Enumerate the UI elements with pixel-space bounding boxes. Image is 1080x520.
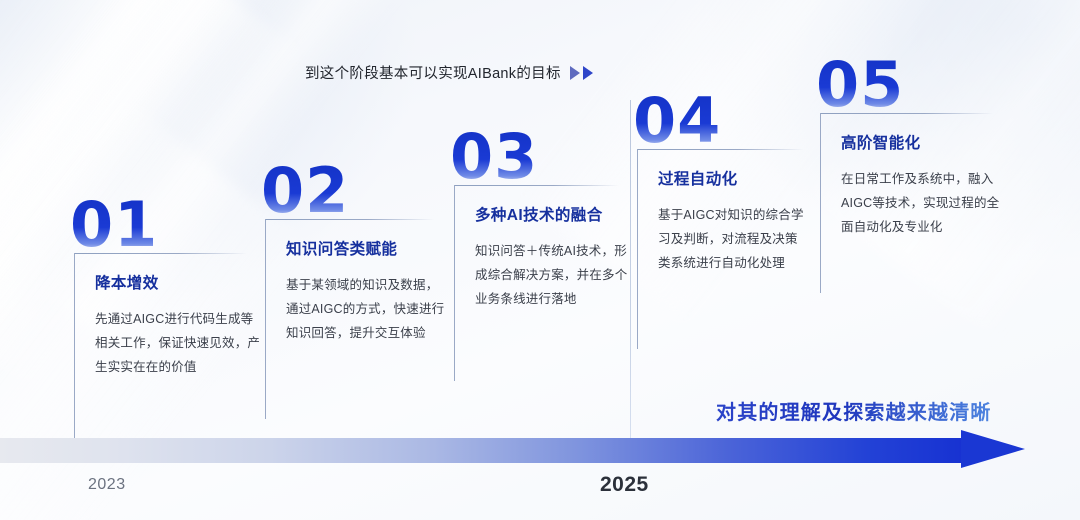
- step-title: 降本增效: [95, 271, 263, 293]
- step-description: 先通过AIGC进行代码生成等相关工作，保证快速见效，产生实实在在的价值: [95, 307, 263, 379]
- timeline-arrow: [0, 436, 1080, 478]
- triangle-right-icon: [583, 66, 593, 80]
- step-title: 过程自动化: [658, 167, 810, 189]
- step-title: 知识问答类赋能: [286, 237, 446, 259]
- step-description: 基于AIGC对知识的综合学习及判断，对流程及决策类系统进行自动化处理: [658, 203, 810, 275]
- step-number: 03: [450, 128, 633, 185]
- step-bracket: 多种AI技术的融合 知识问答＋传统AI技术，形成综合解决方案，并在多个业务条线进…: [454, 185, 633, 381]
- roadmap-stage: 到这个阶段基本可以实现AIBank的目标 01 降本增效 先通过AIGC进行代码…: [0, 0, 1080, 520]
- step-bracket: 降本增效 先通过AIGC进行代码生成等相关工作，保证快速见效，产生实实在在的价值: [74, 253, 263, 449]
- step-card-03[interactable]: 03 多种AI技术的融合 知识问答＋传统AI技术，形成综合解决方案，并在多个业务…: [454, 128, 633, 381]
- step-card-04[interactable]: 04 过程自动化 基于AIGC对知识的综合学习及判断，对流程及决策类系统进行自动…: [637, 92, 810, 349]
- step-number: 05: [816, 56, 1001, 113]
- timeline-bar: [0, 438, 963, 463]
- step-description: 基于某领域的知识及数据，通过AIGC的方式，快速进行知识回答，提升交互体验: [286, 273, 446, 345]
- step-number: 04: [633, 92, 810, 149]
- step-card-02[interactable]: 02 知识问答类赋能 基于某领域的知识及数据，通过AIGC的方式，快速进行知识回…: [265, 162, 446, 419]
- step-card-01[interactable]: 01 降本增效 先通过AIGC进行代码生成等相关工作，保证快速见效，产生实实在在…: [74, 196, 263, 449]
- year-label-start: 2023: [88, 476, 126, 494]
- step-description: 知识问答＋传统AI技术，形成综合解决方案，并在多个业务条线进行落地: [475, 239, 633, 311]
- step-number: 01: [70, 196, 263, 253]
- slogan-text: 对其的理解及探索越来越清晰: [716, 396, 992, 425]
- year-label-mid: 2025: [600, 473, 649, 497]
- triangle-right-icon: [570, 66, 580, 80]
- step-title: 高阶智能化: [841, 131, 1001, 153]
- step-number: 02: [261, 162, 446, 219]
- step-bracket: 过程自动化 基于AIGC对知识的综合学习及判断，对流程及决策类系统进行自动化处理: [637, 149, 810, 349]
- annotation-arrows: [570, 66, 593, 80]
- annotation-text: 到这个阶段基本可以实现AIBank的目标: [305, 62, 561, 83]
- step-description: 在日常工作及系统中，融入AIGC等技术，实现过程的全面自动化及专业化: [841, 167, 1001, 239]
- timeline-year-labels: 2023 2025: [0, 476, 1080, 506]
- arrow-right-icon: [961, 430, 1025, 468]
- step-card-05[interactable]: 05 高阶智能化 在日常工作及系统中，融入AIGC等技术，实现过程的全面自动化及…: [820, 56, 1001, 293]
- step-title: 多种AI技术的融合: [475, 203, 633, 225]
- step-bracket: 高阶智能化 在日常工作及系统中，融入AIGC等技术，实现过程的全面自动化及专业化: [820, 113, 1001, 293]
- step-bracket: 知识问答类赋能 基于某领域的知识及数据，通过AIGC的方式，快速进行知识回答，提…: [265, 219, 446, 419]
- annotation-callout: 到这个阶段基本可以实现AIBank的目标: [305, 62, 593, 83]
